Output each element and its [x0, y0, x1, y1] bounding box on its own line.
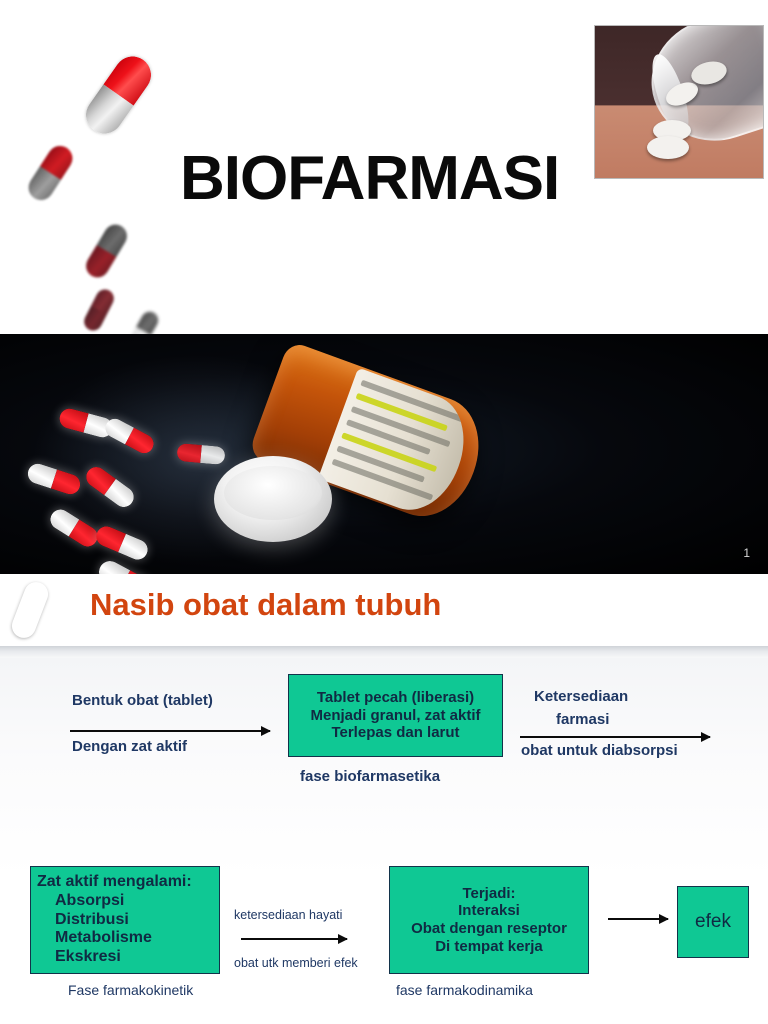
capsule-icon [8, 579, 51, 642]
flow1-box-line: Terlepas dan larut [331, 724, 459, 742]
flow2-arrow-middle [241, 938, 347, 940]
flow2-box1-line: Metabolisme [37, 929, 152, 948]
flow1-left-label-bottom: Dengan zat aktif [72, 738, 187, 755]
capsule-dark-red-icon [82, 220, 132, 282]
flow2-box1-line: Absorpsi [37, 892, 124, 911]
flow2-green-box-efek: efek [677, 886, 749, 958]
flow2-box2-line: Interaksi [458, 902, 520, 920]
flow-diagram-farmakokinetik: Zat aktif mengalami: Absorpsi Distribusi… [0, 866, 768, 1016]
flow2-box1-line: Distribusi [37, 911, 129, 930]
capsule-dark-icon [81, 286, 117, 333]
flow1-arrow-right [520, 736, 710, 738]
flow2-box1-line: Zat aktif mengalami: [37, 873, 192, 892]
flow2-box2-caption: fase farmakodinamika [396, 982, 533, 998]
page-title: BIOFARMASI [180, 143, 559, 214]
header-divider [0, 646, 768, 658]
flow2-box2-line: Terjadi: [462, 885, 515, 903]
slide-body: Bentuk obat (tablet) Dengan zat aktif Ta… [0, 658, 768, 1024]
flow2-box2-line: Obat dengan reseptor [411, 920, 567, 938]
flow2-box1-caption: Fase farmakokinetik [68, 982, 193, 998]
flow1-arrow-left [70, 730, 270, 732]
flow2-arrow-right [608, 918, 668, 920]
bottle-lid [214, 456, 332, 542]
flow1-box-line: Menjadi granul, zat aktif [310, 707, 480, 725]
flow1-box-caption: fase biofarmasetika [300, 768, 440, 785]
flow1-right-label-top: Ketersediaan [534, 688, 628, 705]
flow2-green-box-dinamika: Terjadi: Interaksi Obat dengan reseptor … [389, 866, 589, 974]
flow2-box2-line: Di tempat kerja [435, 938, 543, 956]
flow2-box3-label: efek [695, 911, 731, 933]
flow1-right-label-bottom: obat untuk diabsorpsi [521, 742, 678, 759]
flow1-left-label-top: Bentuk obat (tablet) [72, 692, 213, 709]
flow2-arrow-label-top: ketersediaan hayati [234, 908, 342, 922]
slide-heading: Nasib obat dalam tubuh [90, 587, 441, 623]
slide-header: Nasib obat dalam tubuh [0, 574, 768, 646]
flow2-green-box-kinetik: Zat aktif mengalami: Absorpsi Distribusi… [30, 866, 220, 974]
flow1-green-box: Tablet pecah (liberasi) Menjadi granul, … [288, 674, 503, 757]
flow1-box-line: Tablet pecah (liberasi) [317, 689, 474, 707]
capsule-red-grey-icon [24, 141, 78, 205]
slide-nasib-obat: Nasib obat dalam tubuh Bentuk obat (tabl… [0, 574, 768, 1024]
flow2-box1-line: Ekskresi [37, 948, 121, 967]
slide-title: BIOFARMASI [0, 0, 768, 574]
pill-bottle-photo [594, 25, 764, 179]
banner-photo: 1 [0, 334, 768, 574]
capsule-red-white-icon [79, 49, 159, 141]
page-number: 1 [743, 546, 750, 560]
flow1-right-label-mid: farmasi [556, 711, 609, 728]
flow-diagram-biofarmasetika: Bentuk obat (tablet) Dengan zat aktif Ta… [0, 674, 768, 814]
flow2-arrow-label-bottom: obat utk memberi efek [234, 956, 358, 970]
